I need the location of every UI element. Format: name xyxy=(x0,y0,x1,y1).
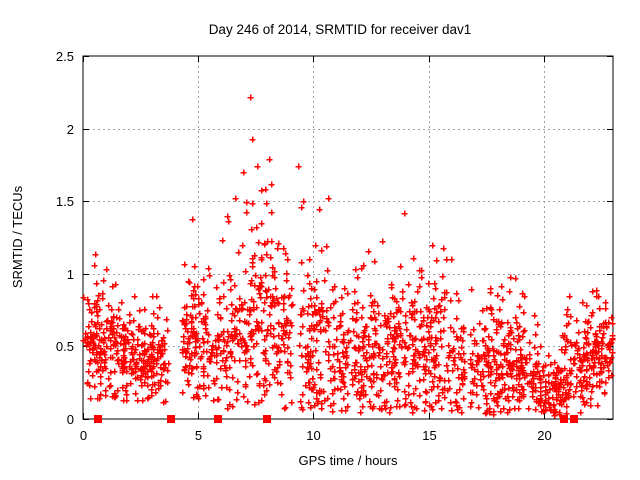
y-tick-label: 0.5 xyxy=(56,339,74,354)
y-tick-label: 1 xyxy=(67,267,74,282)
y-tick-label: 2.5 xyxy=(56,49,74,64)
x-tick-label: 10 xyxy=(306,428,320,443)
x-tick-label: 0 xyxy=(80,428,87,443)
page-title: Day 246 of 2014, SRMTID for receiver dav… xyxy=(209,22,472,37)
y-tick-label: 0 xyxy=(67,412,74,427)
zero-square-marker xyxy=(560,415,568,423)
y-tick-label: 2 xyxy=(67,122,74,137)
x-tick-label: 20 xyxy=(537,428,551,443)
zero-square-marker xyxy=(167,415,175,423)
x-axis-title: GPS time / hours xyxy=(299,453,398,468)
zero-square-marker xyxy=(214,415,222,423)
zero-square-marker xyxy=(570,415,578,423)
zero-square-marker xyxy=(263,415,271,423)
x-tick-label: 15 xyxy=(422,428,436,443)
y-axis-title: SRMTID / TECUs xyxy=(10,185,25,288)
x-tick-label: 5 xyxy=(195,428,202,443)
scatter-plot: Day 246 of 2014, SRMTID for receiver dav… xyxy=(0,0,640,480)
y-tick-label: 1.5 xyxy=(56,194,74,209)
chart-container: Day 246 of 2014, SRMTID for receiver dav… xyxy=(0,0,640,480)
zero-square-marker xyxy=(94,415,102,423)
